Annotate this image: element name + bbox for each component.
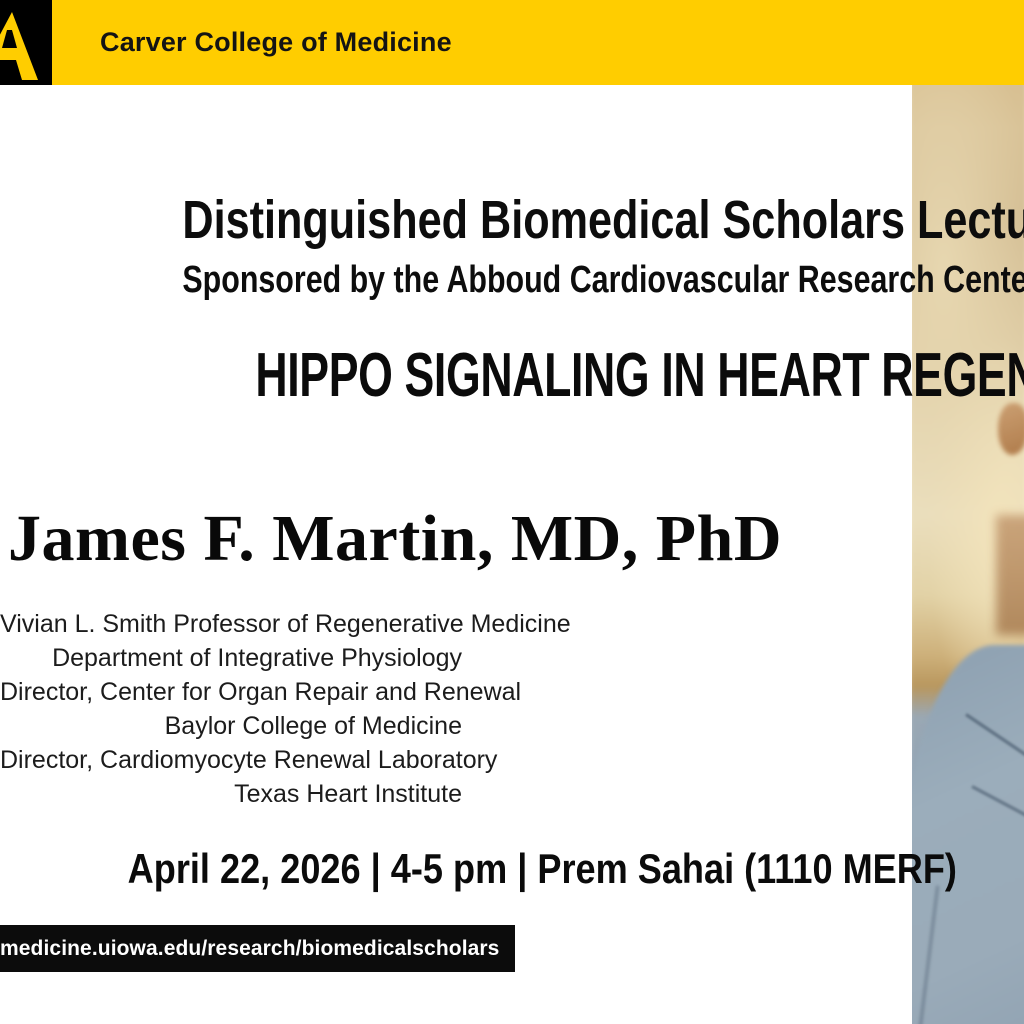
affiliation-line: Director, Center for Organ Repair and Re… [0,675,462,709]
speaker-name: James F. Martin, MD, PhD [0,506,912,572]
affiliation-line: Texas Heart Institute [0,777,462,811]
lecture-headline: HIPPO SIGNALING IN HEART REGENERATION [255,345,912,407]
affiliation-line: Department of Integrative Physiology [0,641,462,675]
affiliation-line: Vivian L. Smith Professor of Regenerativ… [0,607,462,641]
affiliation-line: Baylor College of Medicine [0,709,462,743]
poster-content: Distinguished Biomedical Scholars Lectur… [0,85,912,1024]
url-text: medicine.uiowa.edu/research/biomedicalsc… [0,937,499,961]
header-band: Carver College of Medicine [0,0,1024,85]
lecture-series-title: Distinguished Biomedical Scholars Lectur… [182,193,912,247]
iowa-block-a-logo-icon [0,8,50,84]
header-title: Carver College of Medicine [100,0,452,85]
lecture-series-sponsor: Sponsored by the Abboud Cardiovascular R… [182,261,912,299]
event-details: April 22, 2026 | 4-5 pm | Prem Sahai (11… [128,845,912,893]
photo-neck [996,515,1024,635]
url-banner[interactable]: medicine.uiowa.edu/research/biomedicalsc… [0,925,515,972]
lecture-poster: Carver College of Medicine Distinguished… [0,0,1024,1024]
speaker-affiliations: Vivian L. Smith Professor of Regenerativ… [0,607,912,811]
photo-ear [998,403,1024,455]
affiliation-line: Director, Cardiomyocyte Renewal Laborato… [0,743,462,777]
